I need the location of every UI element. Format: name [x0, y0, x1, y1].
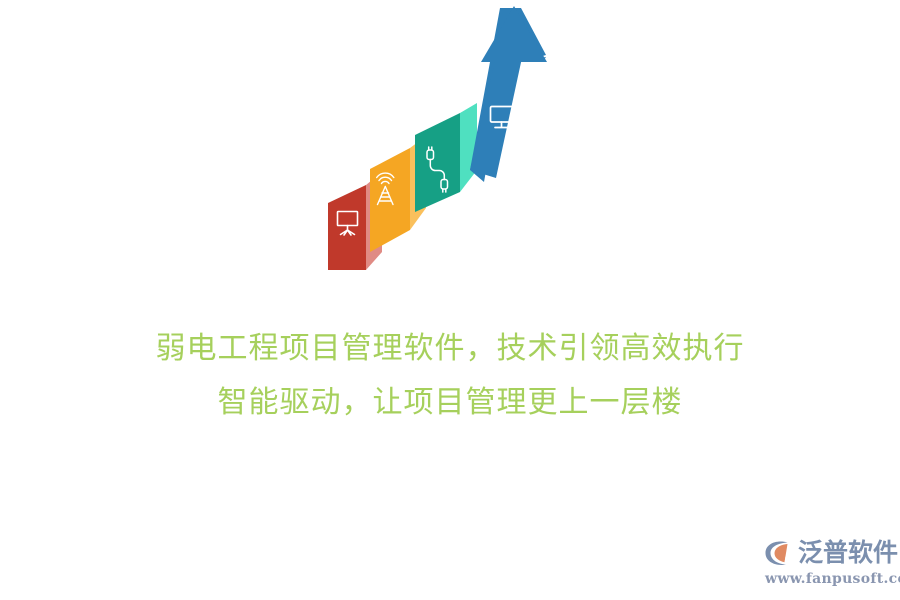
step-3-teal — [415, 103, 477, 212]
fanpu-swoosh-icon — [763, 538, 795, 568]
brand-logo: 泛普软件 www.fanpusoft.com — [763, 536, 893, 592]
step-4-blue-arrow — [470, 6, 547, 182]
ascending-stair-arrow-graphic — [310, 0, 570, 290]
arrow-head — [481, 6, 547, 62]
step-3-front-face — [415, 113, 460, 212]
brand-logo-row: 泛普软件 — [763, 536, 898, 570]
poster-canvas: 弱电工程项目管理软件，技术引领高效执行 智能驱动，让项目管理更上一层楼 泛普软件… — [0, 0, 900, 600]
step-2-front-face — [370, 148, 410, 252]
headline-line-1: 弱电工程项目管理软件，技术引领高效执行 — [0, 322, 900, 376]
brand-name-text: 泛普软件 — [798, 538, 898, 568]
headline-block: 弱电工程项目管理软件，技术引领高效执行 智能驱动，让项目管理更上一层楼 — [0, 322, 900, 430]
brand-url-text: www.fanpusoft.com — [765, 571, 900, 587]
headline-line-2: 智能驱动，让项目管理更上一层楼 — [0, 376, 900, 430]
